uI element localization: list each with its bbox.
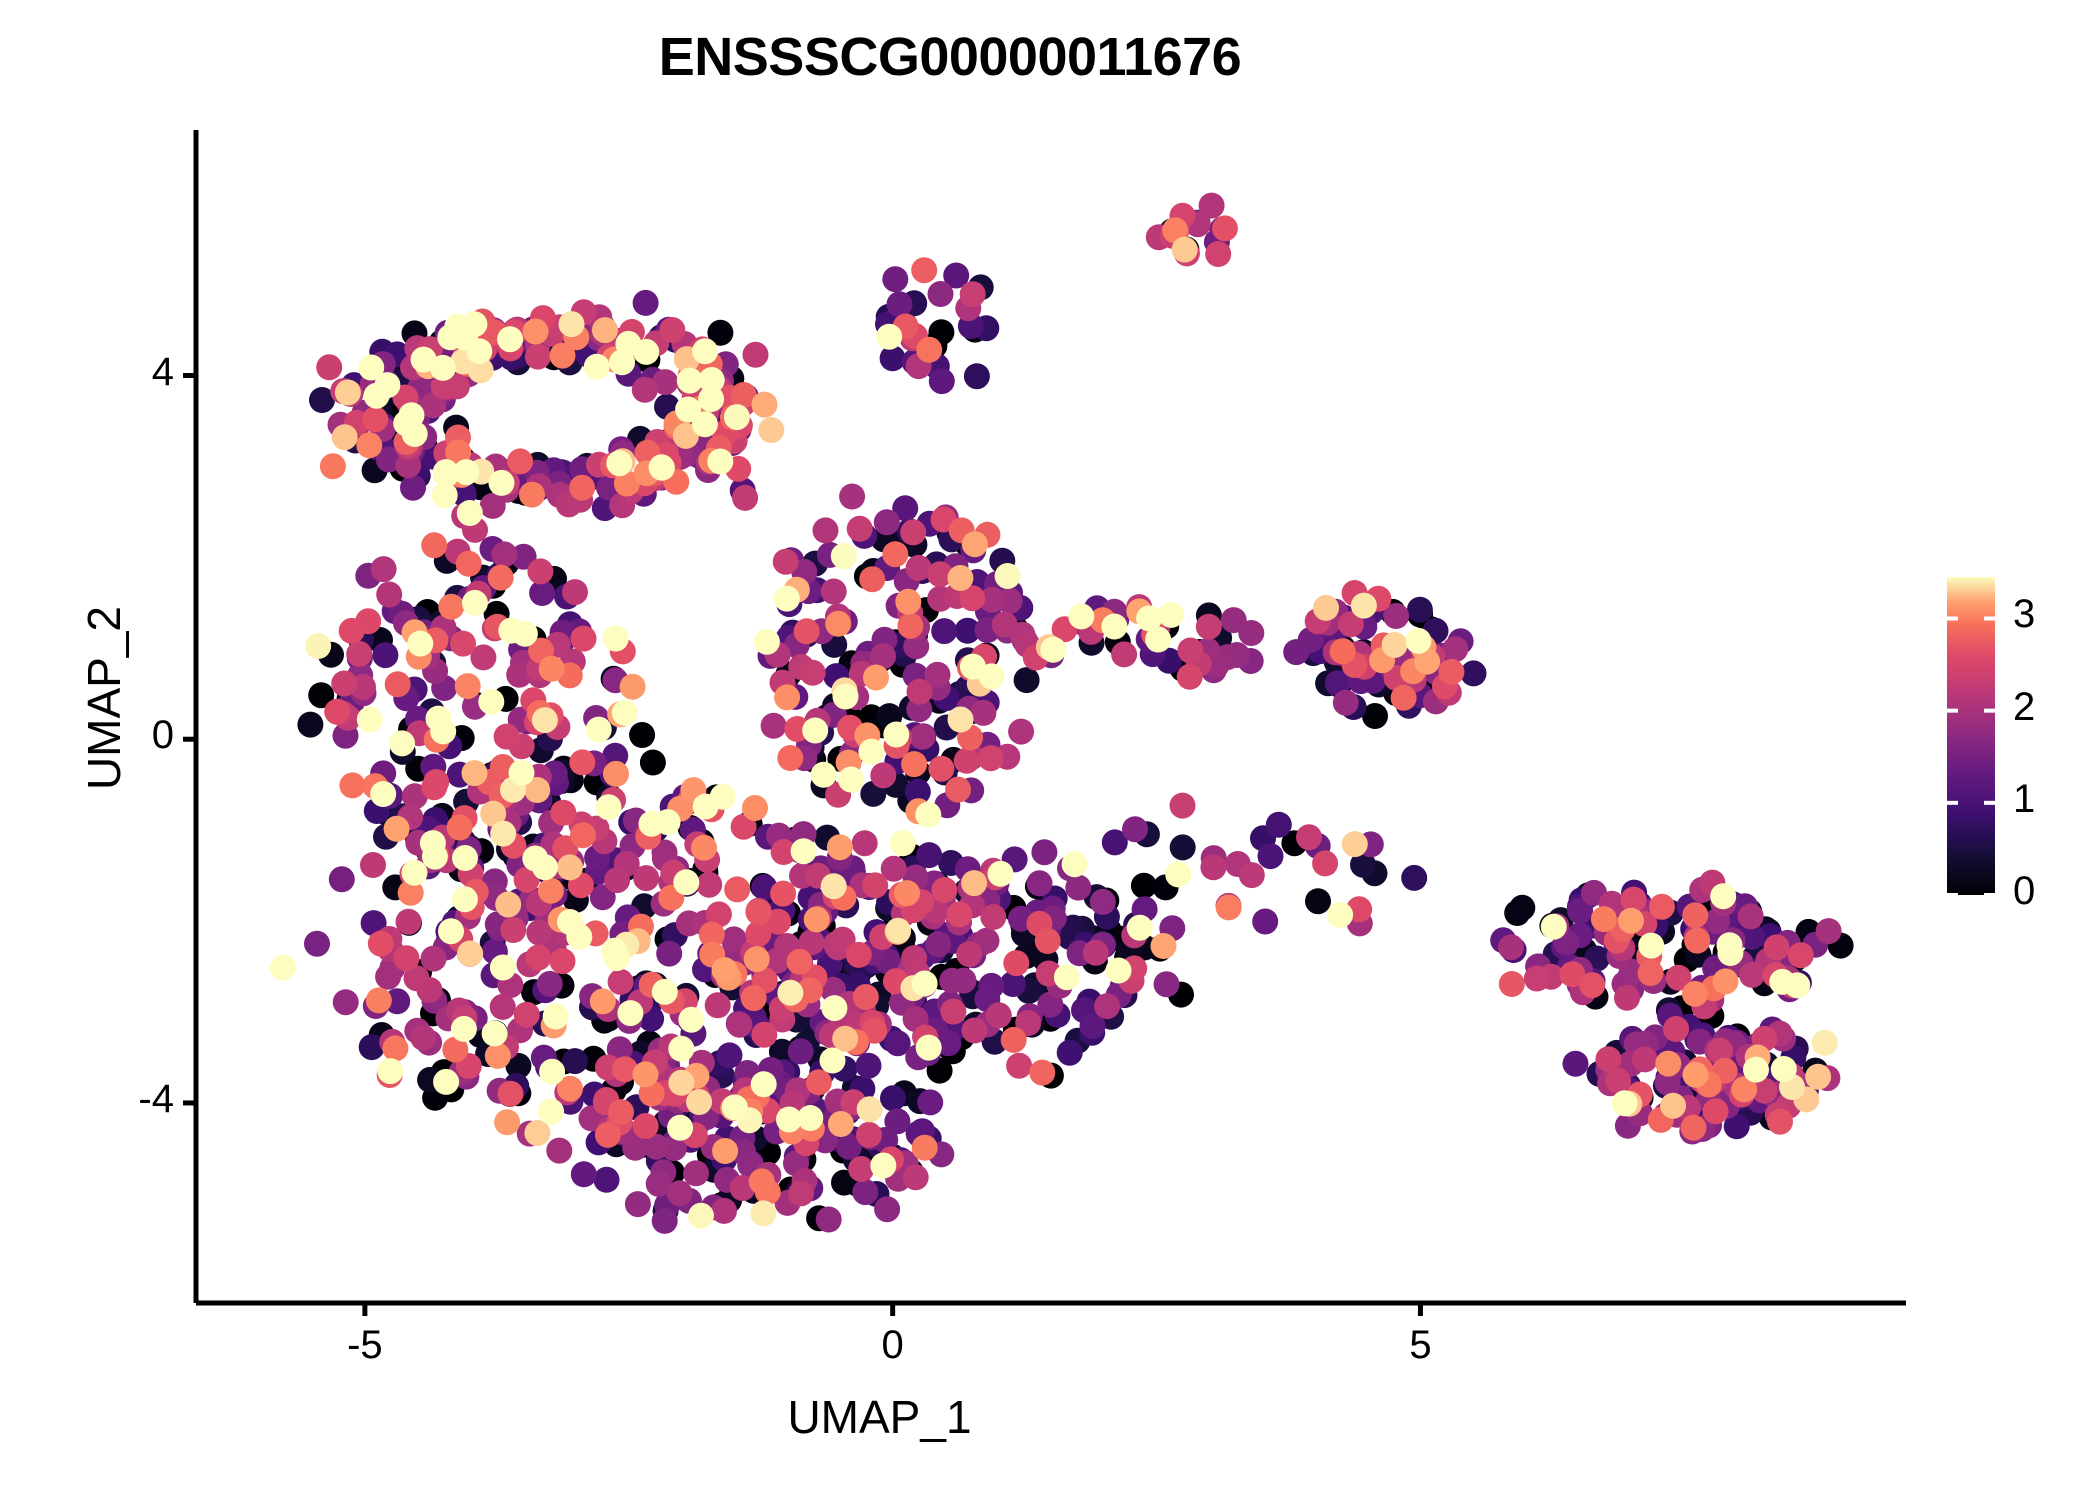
scatter-point [838, 767, 864, 793]
scatter-point [447, 815, 473, 841]
scatter-point [450, 631, 476, 657]
scatter-point [498, 1081, 524, 1107]
scatter-point [917, 1089, 943, 1115]
scatter-point [385, 671, 411, 697]
scatter-point [894, 880, 920, 906]
scatter-point [537, 971, 563, 997]
scatter-point [1238, 620, 1264, 646]
scatter-point [485, 1043, 511, 1069]
scatter-point [617, 1000, 643, 1026]
scatter-point [426, 706, 452, 732]
scatter-point [928, 281, 954, 307]
scatter-point [954, 748, 980, 774]
scatter-point [490, 955, 516, 981]
scatter-point [667, 1115, 693, 1141]
scatter-point [1595, 1046, 1621, 1072]
scatter-point [1638, 960, 1664, 986]
scatter-point [1003, 950, 1029, 976]
scatter-point [961, 870, 987, 896]
scatter-point [1660, 1093, 1686, 1119]
scatter-point [494, 1109, 520, 1135]
scatter-point [761, 713, 787, 739]
scatter-point [876, 324, 902, 350]
scatter-point [1101, 614, 1127, 640]
scatter-point [522, 846, 548, 872]
scatter-point [1788, 942, 1814, 968]
colorbar-tick-label: 1 [2013, 777, 2035, 822]
scatter-point [335, 380, 361, 406]
scatter-point [1442, 636, 1468, 662]
scatter-point [1065, 875, 1091, 901]
scatter-point [754, 629, 780, 655]
scatter-point [1524, 966, 1550, 992]
scatter-point [858, 739, 884, 765]
scatter-point [995, 563, 1021, 589]
scatter-point [1764, 934, 1790, 960]
scatter-point [915, 802, 941, 828]
scatter-point [1027, 870, 1053, 896]
scatter-point [407, 631, 433, 657]
scatter-point [1739, 962, 1765, 988]
scatter-point [1591, 906, 1617, 932]
scatter-point [1655, 1051, 1681, 1077]
scatter-point [722, 1094, 748, 1120]
scatter-point [524, 1120, 550, 1146]
scatter-point [1663, 1016, 1689, 1042]
scatter-point [931, 877, 957, 903]
scatter-point [394, 945, 420, 971]
scatter-point [675, 397, 701, 423]
scatter-point [490, 994, 516, 1020]
scatter-point [495, 892, 521, 918]
scatter-point [1094, 993, 1120, 1019]
scatter-point [601, 938, 627, 964]
scatter-point [603, 761, 629, 787]
scatter-point [678, 1007, 704, 1033]
scatter-point [862, 872, 888, 898]
scatter-point [444, 314, 470, 340]
scatter-point [960, 281, 986, 307]
scatter-point [828, 1111, 854, 1137]
scatter-point [316, 354, 342, 380]
scatter-point [1703, 1098, 1729, 1124]
scatter-point [911, 257, 937, 283]
scatter-point [649, 455, 675, 481]
x-tick-label: 5 [1360, 1323, 1480, 1368]
scatter-point [916, 842, 942, 868]
scatter-point [887, 291, 913, 317]
scatter-point [821, 873, 847, 899]
y-tick-label: 4 [54, 350, 174, 395]
scatter-point [1158, 602, 1184, 628]
scatter-point [846, 942, 872, 968]
scatter-point [885, 918, 911, 944]
scatter-point [633, 865, 659, 891]
scatter-point [1090, 889, 1116, 915]
scatter-point [396, 909, 422, 935]
scatter-point [821, 579, 847, 605]
scatter-point [368, 931, 394, 957]
scatter-point [691, 835, 717, 861]
scatter-point [1172, 237, 1198, 263]
scatter-point [632, 377, 658, 403]
scatter-point [852, 1179, 878, 1205]
scatter-point [1212, 215, 1238, 241]
scatter-point [1638, 933, 1664, 959]
scatter-point [688, 1203, 714, 1229]
scatter-point [897, 613, 923, 639]
scatter-point [946, 901, 972, 927]
scatter-point [652, 979, 678, 1005]
scatter-point [1170, 793, 1196, 819]
scatter-point [1351, 593, 1377, 619]
scatter-point [1031, 839, 1057, 865]
scatter-point [839, 484, 865, 510]
scatter-point [1717, 932, 1743, 958]
scatter-point [1068, 603, 1094, 629]
scatter-point [366, 987, 392, 1013]
scatter-point [1200, 854, 1226, 880]
scatter-point [1057, 1040, 1083, 1066]
scatter-point [633, 1113, 659, 1139]
scatter-point [774, 586, 800, 612]
scatter-point [692, 338, 718, 364]
scatter-point [668, 1070, 694, 1096]
scatter-point [360, 852, 386, 878]
scatter-point [488, 565, 514, 591]
scatter-point [832, 1026, 858, 1052]
scatter-point [1812, 1030, 1838, 1056]
scatter-point [490, 821, 516, 847]
scatter-point [1342, 831, 1368, 857]
scatter-point [1771, 1056, 1797, 1082]
scatter-point [827, 834, 853, 860]
scatter-point [1612, 1090, 1638, 1116]
scatter-point [992, 612, 1018, 638]
scatter-point [590, 988, 616, 1014]
scatter-point [979, 663, 1005, 689]
scatter-point [603, 626, 629, 652]
scatter-point [608, 1099, 634, 1125]
scatter-point [539, 1059, 565, 1085]
scatter-point [433, 1069, 459, 1095]
scatter-point [774, 684, 800, 710]
scatter-point [693, 794, 719, 820]
scatter-point [384, 816, 410, 842]
scatter-point [1312, 850, 1338, 876]
scatter-point [595, 1122, 621, 1148]
scatter-point [1177, 638, 1203, 664]
scatter-point [491, 541, 517, 567]
scatter-point [758, 417, 784, 443]
scatter-point [659, 317, 685, 343]
scatter-point [916, 1035, 942, 1061]
x-tick-label: -5 [305, 1323, 425, 1368]
scatter-point [566, 924, 592, 950]
scatter-point [571, 626, 597, 652]
scatter-point [462, 590, 488, 616]
scatter-point [732, 485, 758, 511]
scatter-point [1040, 637, 1066, 663]
scatter-point [452, 845, 478, 871]
scatter-point [1401, 865, 1427, 891]
scatter-point [402, 860, 428, 886]
scatter-point [1563, 1051, 1589, 1077]
scatter-point [400, 475, 426, 501]
scatter-point [550, 800, 576, 826]
scatter-point [333, 989, 359, 1015]
scatter-point [712, 1138, 738, 1164]
scatter-point [514, 1002, 540, 1028]
scatter-point [1313, 595, 1339, 621]
scatter-point [673, 869, 699, 895]
scatter-point [562, 1048, 588, 1074]
scatter-point [559, 311, 585, 337]
scatter-point [705, 992, 731, 1018]
scatter-point [382, 1035, 408, 1061]
umap-feature-plot: ENSSSCG00000011676 [0, 0, 2100, 1500]
scatter-point [1014, 667, 1040, 693]
scatter-point [1713, 968, 1739, 994]
scatter-point [863, 665, 889, 691]
scatter-point [956, 941, 982, 967]
scatter-point [962, 1018, 988, 1044]
scatter-point [848, 1156, 874, 1182]
scatter-point [800, 660, 826, 686]
scatter-point [978, 745, 1004, 771]
scatter-point [777, 980, 803, 1006]
scatter-point [820, 1048, 846, 1074]
scatter-point [512, 621, 538, 647]
scatter-point [608, 969, 634, 995]
scatter-point [389, 730, 415, 756]
scatter-point [1784, 972, 1810, 998]
scatter-point [988, 861, 1014, 887]
y-tick-label: 0 [54, 713, 174, 758]
scatter-point [1498, 934, 1524, 960]
scatter-point [371, 556, 397, 582]
scatter-point [374, 372, 400, 398]
scatter-point [750, 1200, 776, 1226]
scatter-point [509, 760, 535, 786]
scatter-point [482, 1021, 508, 1047]
scatter-point [1682, 981, 1708, 1007]
scatter-point [1111, 641, 1137, 667]
scatter-point [570, 822, 596, 848]
scatter-point [370, 781, 396, 807]
scatter-point [1252, 909, 1278, 935]
scatter-point [749, 1168, 775, 1194]
scatter-point [507, 448, 533, 474]
scatter-point [1029, 1060, 1055, 1086]
scatter-point [804, 906, 830, 932]
scatter-point [362, 406, 388, 432]
scatter-point [1684, 928, 1710, 954]
scatter-point [1216, 894, 1242, 920]
scatter-point [1145, 627, 1171, 653]
scatter-point [456, 551, 482, 577]
scatter-point [683, 1160, 709, 1186]
scatter-point [870, 762, 896, 788]
scatter-point [751, 1022, 777, 1048]
scatter-point [421, 774, 447, 800]
scatter-point [478, 689, 504, 715]
scatter-point [612, 700, 638, 726]
scatter-point [883, 722, 909, 748]
scatter-point [1054, 964, 1080, 990]
scatter-point [297, 712, 323, 738]
scatter-point [787, 949, 813, 975]
scatter-point [745, 899, 771, 925]
scatter-point [929, 368, 955, 394]
scatter-point [1196, 614, 1222, 640]
colorbar-gradient [1947, 577, 1995, 895]
scatter-point [332, 424, 358, 450]
scatter-point [656, 941, 682, 967]
scatter-point [532, 707, 558, 733]
scatter-point [1330, 638, 1356, 664]
scatter-point [1258, 843, 1284, 869]
scatter-point [856, 1122, 882, 1148]
scatter-point [847, 516, 873, 542]
scatter-point [324, 699, 350, 725]
scatter-point [743, 342, 769, 368]
scatter-point [1805, 1064, 1831, 1090]
scatter-point [421, 946, 447, 972]
scatter-point [357, 707, 383, 733]
scatter-point [951, 968, 977, 994]
scatter-point [586, 717, 612, 743]
scatter-point [1683, 1062, 1709, 1088]
scatter-point [912, 1135, 938, 1161]
scatter-point [1327, 902, 1353, 928]
scatter-point [947, 565, 973, 591]
scatter-point [1283, 639, 1309, 665]
scatter-point [538, 878, 564, 904]
scatter-point [909, 724, 935, 750]
scatter-point [948, 707, 974, 733]
scatter-point [833, 684, 859, 710]
scatter-point [339, 618, 365, 644]
scatter-point [1035, 928, 1061, 954]
scatter-point [1391, 685, 1417, 711]
scatter-point [903, 1164, 929, 1190]
scatter-point [339, 772, 365, 798]
scatter-point [594, 1167, 620, 1193]
scatter-point [331, 671, 357, 697]
scatter-point [1499, 971, 1525, 997]
scatter-point [519, 482, 545, 508]
scatter-point [438, 918, 464, 944]
scatter-point [980, 904, 1006, 930]
scatter-point [880, 1085, 906, 1111]
scatter-point [438, 594, 464, 620]
scatter-point [655, 809, 681, 835]
scatter-point [629, 722, 655, 748]
scatter-point [1816, 918, 1842, 944]
scatter-point [1632, 1046, 1658, 1072]
scatter-point [852, 830, 878, 856]
scatter-point [1199, 193, 1225, 219]
scatter-point [329, 866, 355, 892]
scatter-point [625, 1191, 651, 1217]
x-tick-label: 0 [833, 1323, 953, 1368]
scatter-point [928, 756, 954, 782]
scatter-point [773, 549, 799, 575]
scatter-point [724, 404, 750, 430]
scatter-point [726, 1012, 752, 1038]
scatter-point [451, 1016, 477, 1042]
scatter-point [962, 531, 988, 557]
scatter-point [1710, 883, 1736, 909]
scatter-point [304, 931, 330, 957]
plot-canvas [0, 0, 2100, 1500]
scatter-point [925, 931, 951, 957]
scatter-point [900, 519, 926, 545]
scatter-point [452, 886, 478, 912]
colorbar-tick-label: 0 [2013, 869, 2035, 914]
scatter-point [821, 995, 847, 1021]
scatter-point [462, 760, 488, 786]
scatter-point [430, 355, 456, 381]
scatter-point [707, 449, 733, 475]
scatter-point [945, 777, 971, 803]
scatter-point [699, 367, 725, 393]
scatter-point [1382, 632, 1408, 658]
scatter-point [856, 1053, 882, 1079]
scatter-point [1151, 933, 1177, 959]
scatter-point [466, 338, 492, 364]
scatter-point [320, 453, 346, 479]
scatter-point [831, 543, 857, 569]
scatter-point [668, 1036, 694, 1062]
scatter-point [346, 641, 372, 667]
scatter-point [584, 354, 610, 380]
scatter-point [376, 582, 402, 608]
scatter-point [916, 337, 942, 363]
scatter-point [882, 266, 908, 292]
scatter-point [633, 1061, 659, 1087]
scatter-point [874, 509, 900, 535]
scatter-point [870, 1153, 896, 1179]
scatter-point [596, 794, 622, 820]
scatter-point [1154, 971, 1180, 997]
scatter-point [1008, 719, 1034, 745]
scatter-point [752, 392, 778, 418]
scatter-point [882, 541, 908, 567]
scatter-point [802, 718, 828, 744]
scatter-point [1579, 972, 1605, 998]
scatter-point [667, 1180, 693, 1206]
scatter-point [711, 1198, 737, 1224]
scatter-point [859, 566, 885, 592]
scatter-point [562, 579, 588, 605]
scatter-point [571, 1161, 597, 1187]
scatter-point [604, 867, 630, 893]
scatter-point [652, 1208, 678, 1234]
scatter-point [1001, 1027, 1027, 1053]
scatter-point [940, 999, 966, 1025]
scatter-point [592, 317, 618, 343]
scatter-point [410, 1025, 436, 1051]
scatter-point [857, 1096, 883, 1122]
scatter-point [806, 1069, 832, 1095]
scatter-point [305, 633, 331, 659]
scatter-point [399, 402, 425, 428]
scatter-point [788, 1180, 814, 1206]
scatter-point [1405, 628, 1431, 654]
scatter-point [500, 917, 526, 943]
